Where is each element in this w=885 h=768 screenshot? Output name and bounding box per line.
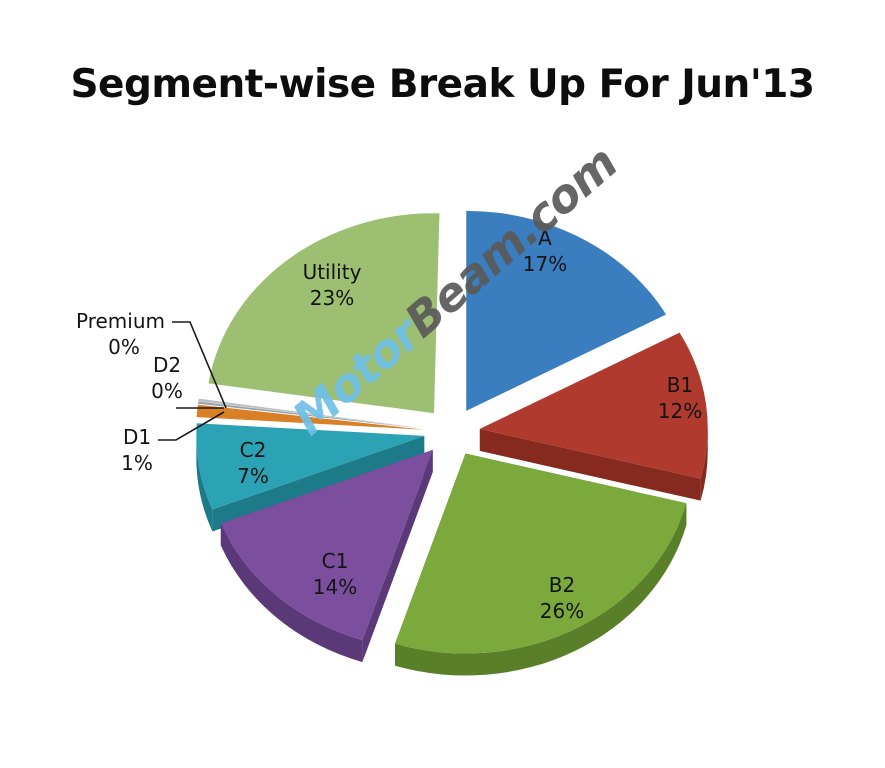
callout-label-d2-value: 0% [141, 378, 193, 404]
callout-label-premium-name: Premium [76, 308, 172, 334]
callout-label-d2-name: D2 [141, 352, 193, 378]
callout-label-d1-value: 1% [113, 450, 161, 476]
callout-label-d1: D1 1% [113, 424, 161, 477]
callout-label-d1-name: D1 [113, 424, 161, 450]
pie-chart-figure: Segment-wise Break Up For Jun'13 A 17% B… [0, 0, 885, 768]
callout-label-d2: D2 0% [141, 352, 193, 405]
callout-leader-lines [0, 0, 885, 768]
leader-line-d1 [158, 412, 224, 440]
